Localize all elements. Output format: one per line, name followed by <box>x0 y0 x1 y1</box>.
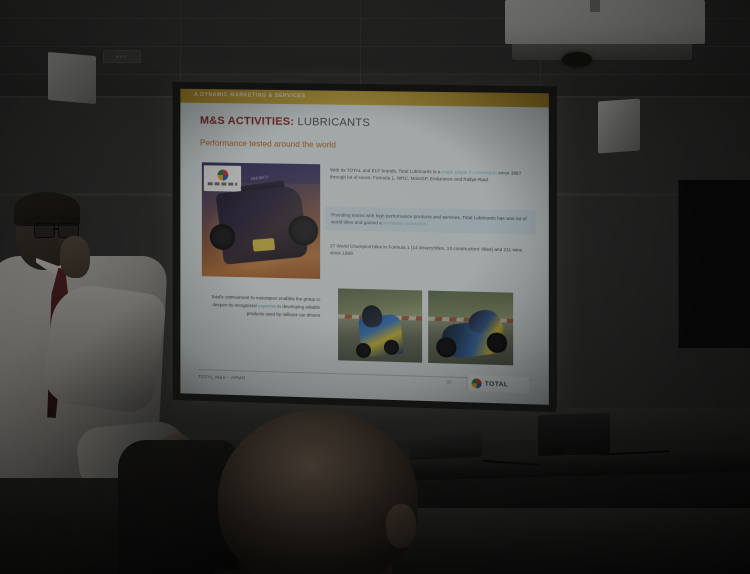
p3-pre: 27 World Champion'titles in Formula 1 (1… <box>330 243 522 256</box>
motogp-bike-photo-1 <box>338 288 422 362</box>
speaker-icon <box>48 52 96 104</box>
exit-sign: EXIT <box>103 50 141 63</box>
caption-highlight: expertise <box>258 303 276 308</box>
title-primary: M&S ACTIVITIES: <box>200 115 294 128</box>
total-partner-badge <box>204 165 241 191</box>
footer-left-text: TOTAL M&S - APMO <box>198 374 245 380</box>
p2-highlight: worldwide reputation <box>383 221 426 227</box>
slide-subtitle: Performance tested around the world <box>200 138 336 150</box>
p1-highlight: major player in motorsport <box>442 169 497 175</box>
slide-canvas: A DYNAMIC MARKETING & SERVICES M&S ACTIV… <box>180 89 548 405</box>
slide-page-number: 35 <box>446 380 451 385</box>
projection-screen: A DYNAMIC MARKETING & SERVICES M&S ACTIV… <box>173 82 557 412</box>
presenter-hand <box>60 236 90 278</box>
slide-banner-text: A DYNAMIC MARKETING & SERVICES <box>194 92 306 99</box>
p1-pre: With its TOTAL and ELF brands, Total Lub… <box>330 167 442 174</box>
slide-banner: A DYNAMIC MARKETING & SERVICES <box>180 89 548 108</box>
audience-head <box>218 410 418 574</box>
p2-pre: Providing teams with high performance pr… <box>331 212 527 225</box>
page-title: M&S ACTIVITIES: LUBRICANTS <box>200 115 370 129</box>
title-secondary: LUBRICANTS <box>298 116 371 129</box>
p2-post: . <box>426 221 427 226</box>
motogp-bike-photo-2 <box>428 291 513 366</box>
total-logo-text: TOTAL <box>485 380 509 388</box>
audience-ear <box>386 504 416 548</box>
body-paragraph-2: Providing teams with high performance pr… <box>325 206 535 235</box>
total-logo-mark-icon <box>472 378 482 388</box>
glasses-icon <box>34 223 80 236</box>
projector-icon <box>505 0 705 44</box>
total-logo: TOTAL <box>467 375 530 393</box>
projected-slide: A DYNAMIC MARKETING & SERVICES M&S ACTIV… <box>180 89 548 405</box>
slide-caption: Total's commitment to motorsport enables… <box>210 293 320 319</box>
monitor <box>538 413 610 458</box>
audience-member <box>200 410 450 574</box>
presenter-hair <box>14 192 80 226</box>
photo-scene: EXIT A DYNAMIC MARKETING & SERVICES M&S … <box>0 0 750 574</box>
wall-display-panel <box>678 180 750 348</box>
presenter-arm <box>40 281 168 415</box>
projector-lens-icon <box>562 52 592 67</box>
body-paragraph-1: With its TOTAL and ELF brands, Total Lub… <box>330 166 531 184</box>
formula-1-car-photo: INFINITI <box>202 162 320 279</box>
body-paragraph-3: 27 World Champion'titles in Formula 1 (1… <box>330 242 531 261</box>
projector-bracket <box>590 0 600 12</box>
speaker-icon <box>598 99 640 154</box>
